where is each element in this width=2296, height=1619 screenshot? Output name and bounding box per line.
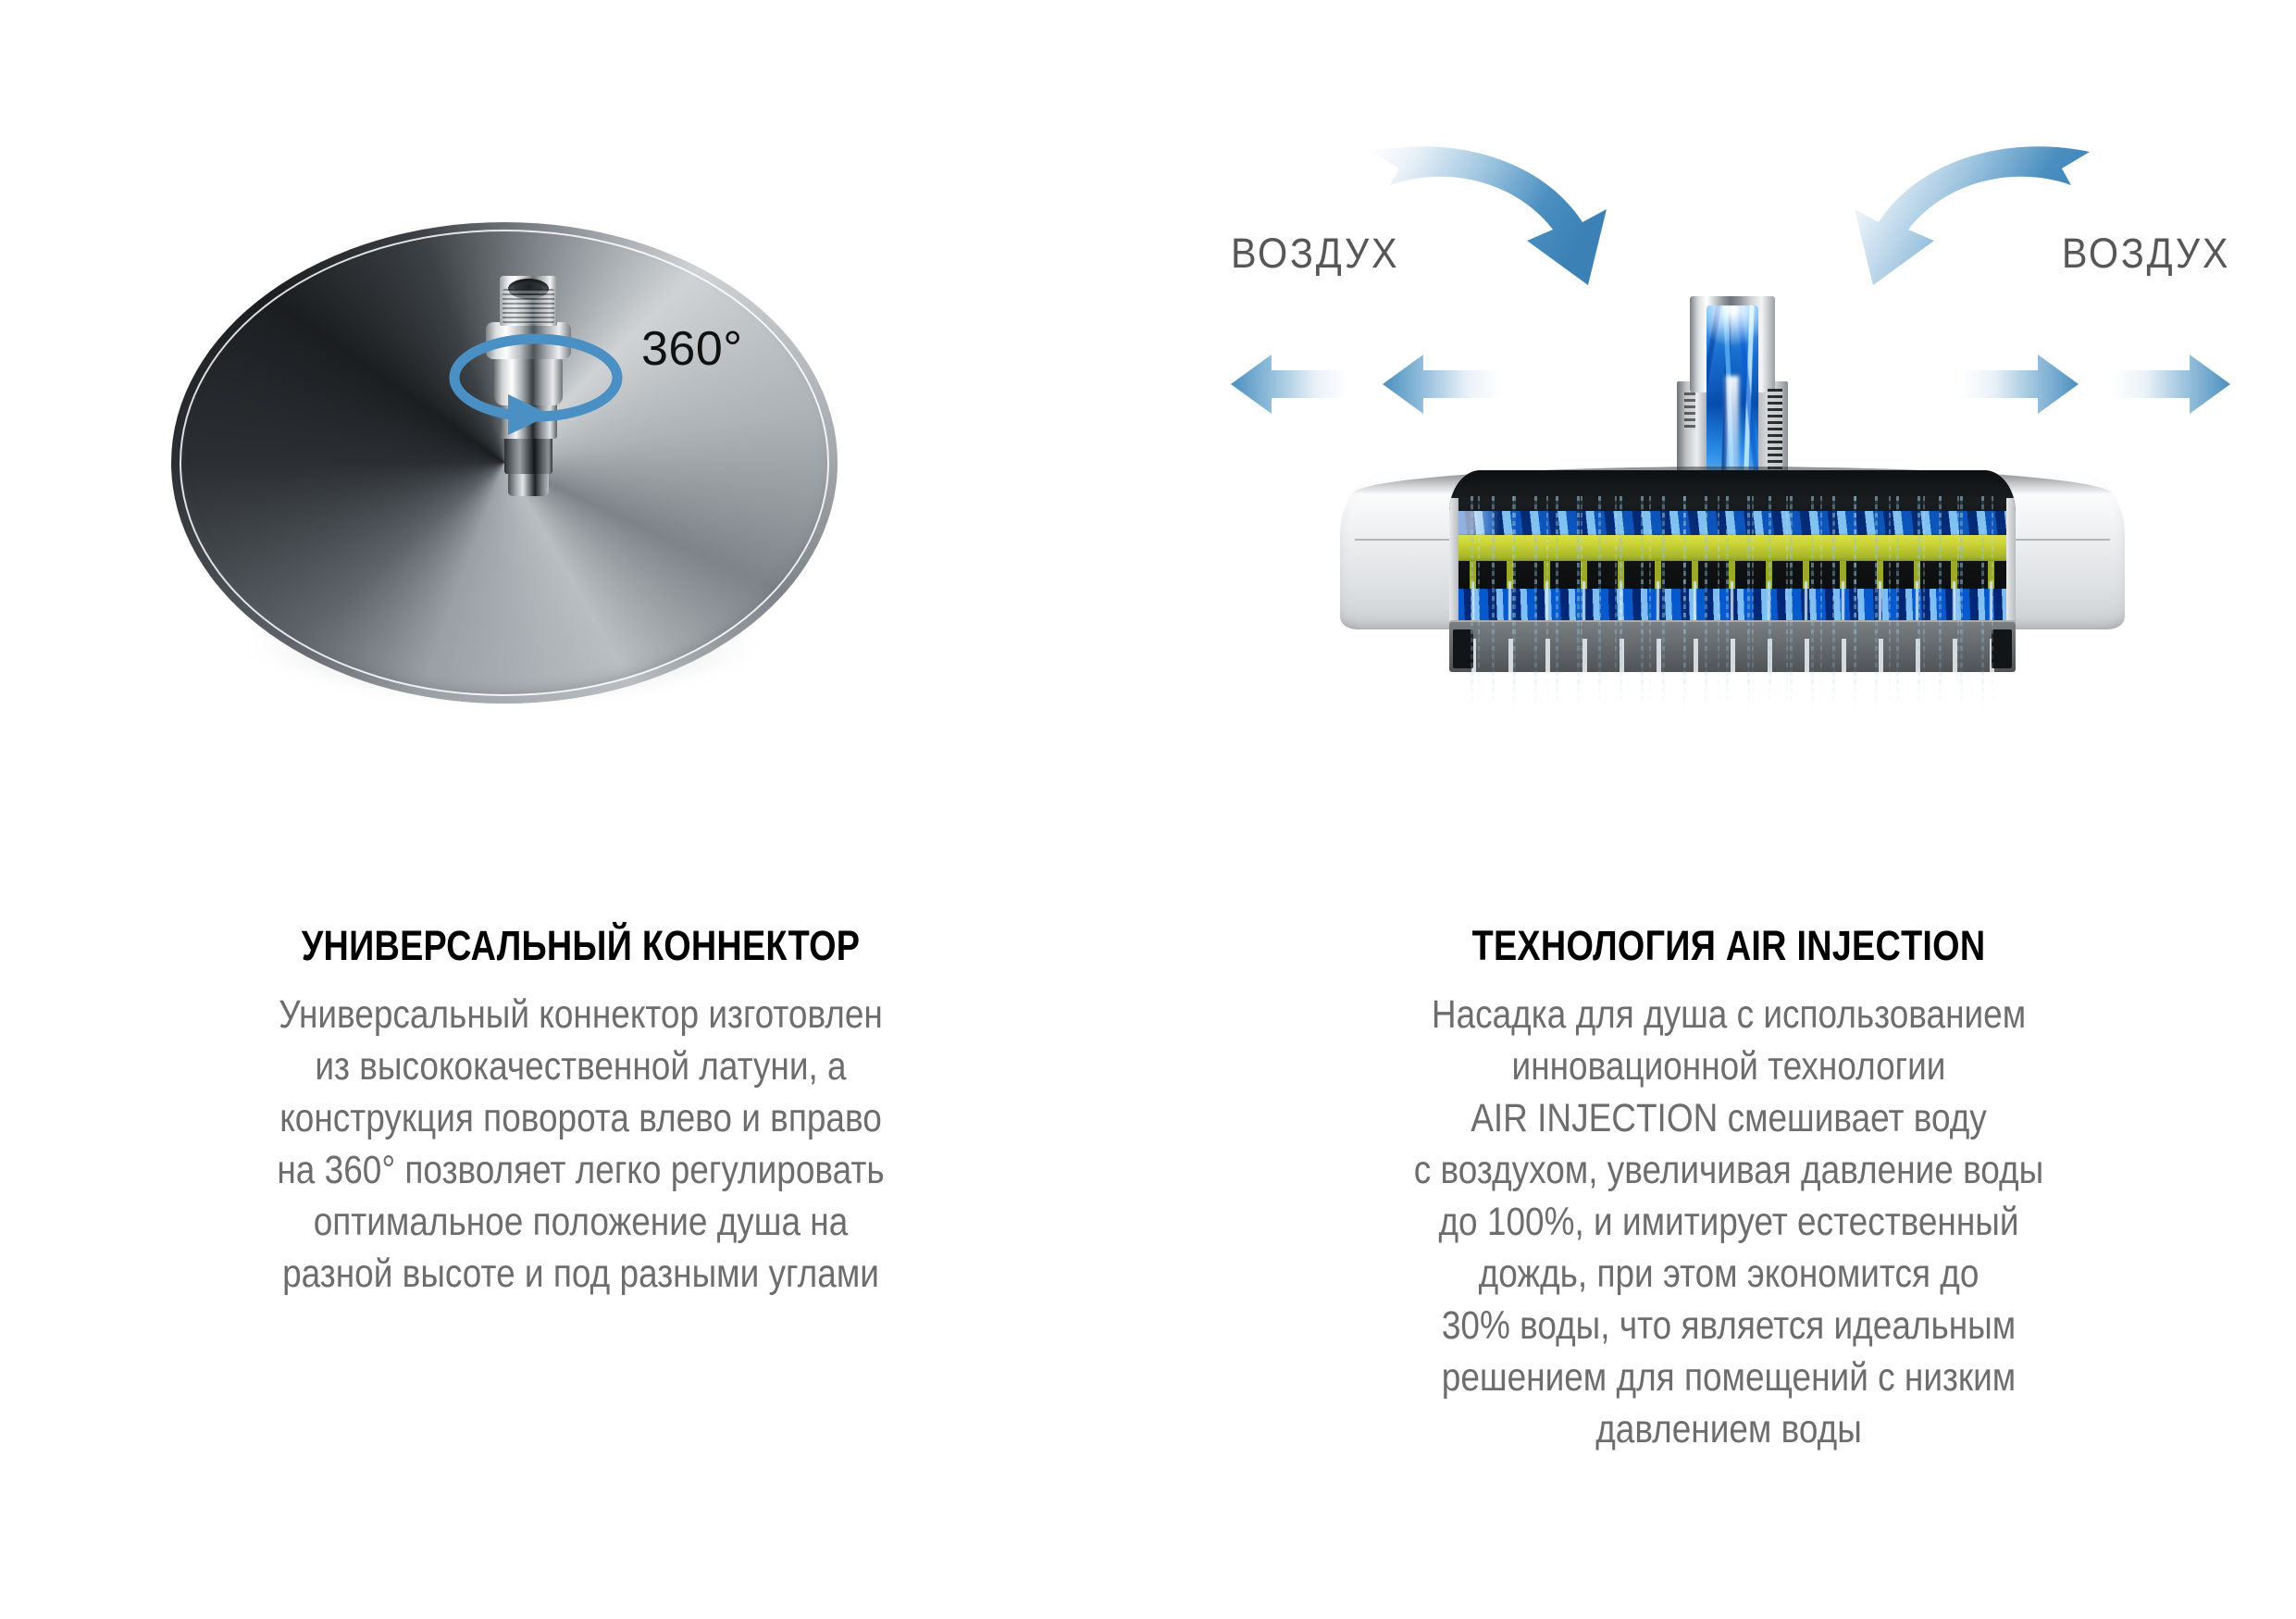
feature-comparison-page: 360° УНИВЕРСАЛЬНЫЙ КОННЕКТОР Универсальн…	[0, 0, 2296, 1619]
right-caption: ТЕХНОЛОГИЯ AIR INJECTION Насадка для душ…	[1161, 922, 2296, 1455]
shower-head-cutaway	[1340, 296, 2125, 704]
water-spray	[1462, 496, 2003, 709]
cut-edge-left	[1449, 498, 1458, 626]
inlet-thread-left	[1684, 392, 1695, 430]
rotation-arrow-icon	[445, 331, 627, 428]
right-arrow-icon-outer	[2112, 350, 2230, 418]
right-feature-title: ТЕХНОЛОГИЯ AIR INJECTION	[1252, 922, 2205, 970]
rotation-degrees-label: 360°	[641, 321, 743, 377]
right-feature-description: Насадка для душа с использованием иннова…	[1241, 989, 2216, 1455]
curved-air-arrow-right-icon	[1825, 137, 2093, 299]
shower-disc-illustration: 360°	[171, 222, 838, 704]
right-feature-column: ВОЗДУХ ВОЗДУХ	[1161, 0, 2296, 1619]
curved-air-arrow-left-icon	[1368, 137, 1636, 299]
left-caption: УНИВЕРСАЛЬНЫЙ КОННЕКТОР Универсальный ко…	[0, 922, 1161, 1300]
left-feature-title: УНИВЕРСАЛЬНЫЙ КОННЕКТОР	[93, 922, 1068, 970]
connector-threads	[503, 289, 554, 324]
left-feature-description: Универсальный коннектор изготовлен из вы…	[81, 989, 1080, 1300]
air-injection-illustration: ВОЗДУХ ВОЗДУХ	[1231, 111, 2230, 852]
cut-edge-right	[2006, 498, 2016, 626]
left-feature-column: 360° УНИВЕРСАЛЬНЫЙ КОННЕКТОР Универсальн…	[0, 0, 1161, 1619]
left-arrow-icon-outer	[1231, 350, 1349, 418]
